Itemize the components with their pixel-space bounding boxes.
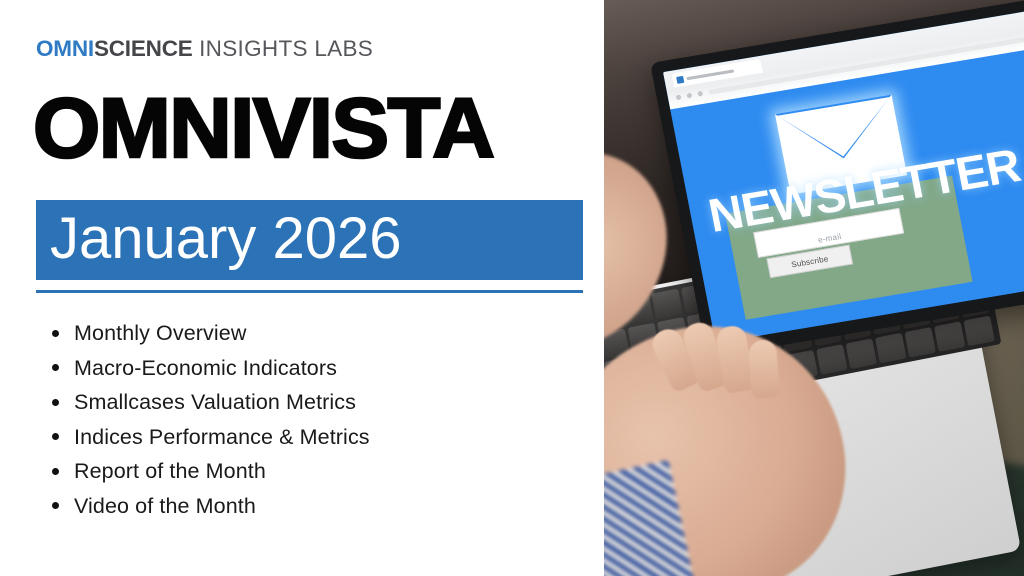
laptop-lid: NEWSLETTER e-mail Subscribe [650,0,1024,358]
brand-logo-insights-labs: INSIGHTS LABS [193,36,374,61]
list-item-label: Macro-Economic Indicators [74,356,337,380]
list-item[interactable]: Video of the Month [48,489,370,524]
laptop-screen: NEWSLETTER e-mail Subscribe [663,11,1024,343]
bullet-icon [52,330,59,337]
list-item[interactable]: Report of the Month [48,454,370,489]
favicon-icon [676,75,684,83]
keyboard-key [904,327,935,357]
issue-date-label: January 2026 [50,210,401,268]
list-item[interactable]: Monthly Overview [48,316,370,351]
list-item-label: Monthly Overview [74,321,246,345]
finger [748,339,780,399]
brand-logo: OMNISCIENCE INSIGHTS LABS [36,38,373,61]
subscribe-button-label: Subscribe [790,254,829,269]
keyboard-key [875,333,906,363]
list-item-label: Indices Performance & Metrics [74,425,370,449]
hero-photo: NEWSLETTER e-mail Subscribe [604,0,1024,576]
list-item[interactable]: Indices Performance & Metrics [48,420,370,455]
back-arrow-icon[interactable] [676,94,682,100]
table-of-contents: Monthly Overview Macro-Economic Indicato… [48,316,370,523]
keyboard-key [963,316,994,346]
bullet-icon [52,433,59,440]
list-item-label: Report of the Month [74,459,266,483]
newsletter-cover-slide: OMNISCIENCE INSIGHTS LABS OMNIVISTA Janu… [0,0,1024,576]
page-title: OMNIVISTA [33,90,493,167]
bullet-icon [52,364,59,371]
issue-date-band: January 2026 [36,200,583,280]
browser-tab-title [686,69,734,80]
reload-icon[interactable] [697,91,703,97]
bullet-icon [52,399,59,406]
list-item[interactable]: Smallcases Valuation Metrics [48,385,370,420]
brand-logo-science: SCIENCE [94,36,193,61]
brand-logo-omni: OMNI [36,36,94,61]
list-item-label: Smallcases Valuation Metrics [74,390,356,414]
list-item-label: Video of the Month [74,494,256,518]
keyboard-key [652,289,683,319]
bullet-icon [52,468,59,475]
keyboard-key [816,345,847,375]
forward-arrow-icon[interactable] [686,93,692,99]
bullet-icon [52,502,59,509]
list-item[interactable]: Macro-Economic Indicators [48,351,370,386]
divider [36,290,583,293]
keyboard-key [845,339,876,369]
email-field-placeholder: e-mail [817,232,842,245]
left-text-panel: OMNISCIENCE INSIGHTS LABS OMNIVISTA Janu… [0,0,604,576]
keyboard-key [934,322,965,352]
